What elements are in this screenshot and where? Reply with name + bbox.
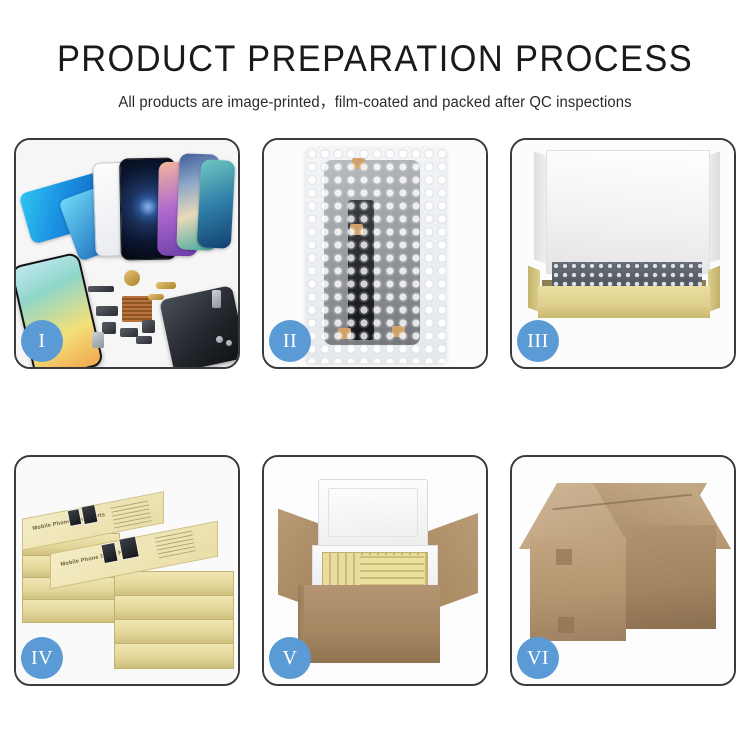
part-screw — [216, 336, 223, 343]
step-card-4: Mobile Phone Spare Parts Mobile Phone Sp… — [14, 455, 240, 686]
part-camera-module — [96, 306, 118, 316]
step-badge-4: IV — [21, 637, 63, 679]
box-lid-open — [546, 150, 710, 274]
header: PRODUCT PREPARATION PROCESS All products… — [0, 0, 750, 112]
page-subtitle: All products are image-printed，film-coat… — [15, 90, 735, 112]
carton-front-panel — [304, 585, 440, 663]
stacked-box-r3 — [114, 619, 234, 645]
part-connector-strip — [88, 286, 114, 292]
carton-front-face — [530, 537, 626, 641]
part-receiver — [142, 320, 155, 333]
part-button-flex — [120, 328, 138, 337]
step-badge-1: I — [21, 320, 63, 362]
phone-teal-display-2 — [197, 159, 236, 249]
step-card-3: III — [510, 138, 736, 369]
step-badge-3: III — [517, 320, 559, 362]
step-card-6: VI — [510, 455, 736, 686]
stacked-box-r1 — [114, 571, 234, 597]
page-title: PRODUCT PREPARATION PROCESS — [26, 40, 724, 77]
part-logic-board — [122, 296, 152, 322]
stacked-box-r2 — [114, 595, 234, 621]
phone-rear-housing — [159, 285, 238, 367]
stacked-box-r4 — [114, 643, 234, 669]
carton-side-face — [626, 525, 716, 629]
carton-tape-lower — [558, 617, 574, 633]
step-card-5: V — [262, 455, 488, 686]
part-sim-tray — [92, 332, 104, 348]
part-flex-cable-2 — [148, 294, 164, 300]
step-badge-6: VI — [517, 637, 559, 679]
step-card-1: I — [14, 138, 240, 369]
part-flex-cable — [156, 282, 176, 289]
process-steps-grid: I II — [14, 138, 736, 686]
foam-box-lid — [318, 479, 428, 547]
product-preparation-infographic: PRODUCT PREPARATION PROCESS All products… — [0, 0, 750, 750]
box-front-panel — [538, 286, 710, 318]
part-antenna — [136, 336, 152, 344]
part-vibration-motor — [102, 322, 116, 334]
step-badge-2: II — [269, 320, 311, 362]
part-screw-2 — [226, 340, 232, 346]
bubble-wrap-overlay — [306, 148, 446, 363]
box-print-screen-b2 — [118, 535, 140, 560]
part-speaker-module — [124, 270, 140, 286]
stacked-box-l4 — [22, 599, 120, 623]
carton-tape-upper — [556, 549, 572, 565]
step-badge-5: V — [269, 637, 311, 679]
bubble-wrapped-contents — [552, 262, 702, 288]
part-screwdriver — [212, 290, 221, 308]
step-card-2: II — [262, 138, 488, 369]
